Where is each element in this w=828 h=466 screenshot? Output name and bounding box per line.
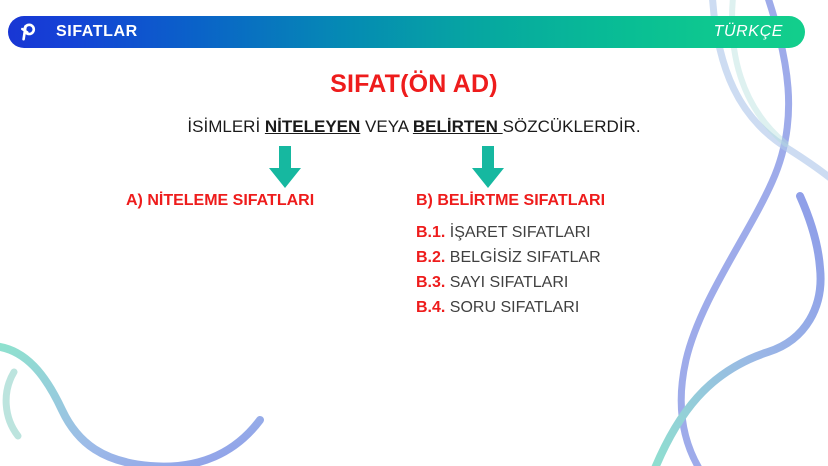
column-b-heading: B) BELİRTME SIFATLARI <box>416 192 605 210</box>
slide-content: SIFAT(ÖN AD) İSİMLERİ NİTELEYEN VEYA BEL… <box>0 0 828 466</box>
header-bar: SIFATLAR TÜRKÇE <box>8 16 805 48</box>
list-item-key: B.2. <box>416 249 445 266</box>
subtitle-part-1: İSİMLERİ <box>187 117 264 136</box>
list-item: B.2. BELGİSİZ SIFATLAR <box>416 245 756 270</box>
list-item: B.4. SORU SIFATLARI <box>416 295 756 320</box>
page-title: SIFAT(ÖN AD) <box>0 70 828 99</box>
list-item-label: SORU SIFATLARI <box>450 299 580 316</box>
list-item-key: B.4. <box>416 299 445 316</box>
list-item-label: İŞARET SIFATLARI <box>450 224 591 241</box>
arrow-down-icon-left <box>265 146 305 188</box>
p-logo-icon <box>16 20 40 44</box>
list-item: B.3. SAYI SIFATLARI <box>416 270 756 295</box>
subtitle-emphasis-belirten: BELİRTEN <box>413 117 503 136</box>
list-item: B.1. İŞARET SIFATLARI <box>416 220 756 245</box>
list-item-label: SAYI SIFATLARI <box>450 274 569 291</box>
list-item-label: BELGİSİZ SIFATLAR <box>450 249 601 266</box>
slide-canvas: SIFATLAR TÜRKÇE SIFAT(ÖN AD) İSİMLERİ Nİ… <box>0 0 828 466</box>
subtitle-part-3: SÖZCÜKLERDİR. <box>503 117 641 136</box>
column-a-heading: A) NİTELEME SIFATLARI <box>126 192 314 210</box>
subtitle-emphasis-niteleyen: NİTELEYEN <box>265 117 360 136</box>
slide-subtitle: İSİMLERİ NİTELEYEN VEYA BELİRTEN SÖZCÜKL… <box>0 117 828 137</box>
arrow-down-icon-right <box>468 146 508 188</box>
subtitle-part-2: VEYA <box>360 117 413 136</box>
header-title: SIFATLAR <box>56 24 138 40</box>
header-language-label: TÜRKÇE <box>714 24 783 40</box>
list-item-key: B.1. <box>416 224 445 241</box>
column-b-list: B.1. İŞARET SIFATLARI B.2. BELGİSİZ SIFA… <box>416 220 756 320</box>
list-item-key: B.3. <box>416 274 445 291</box>
